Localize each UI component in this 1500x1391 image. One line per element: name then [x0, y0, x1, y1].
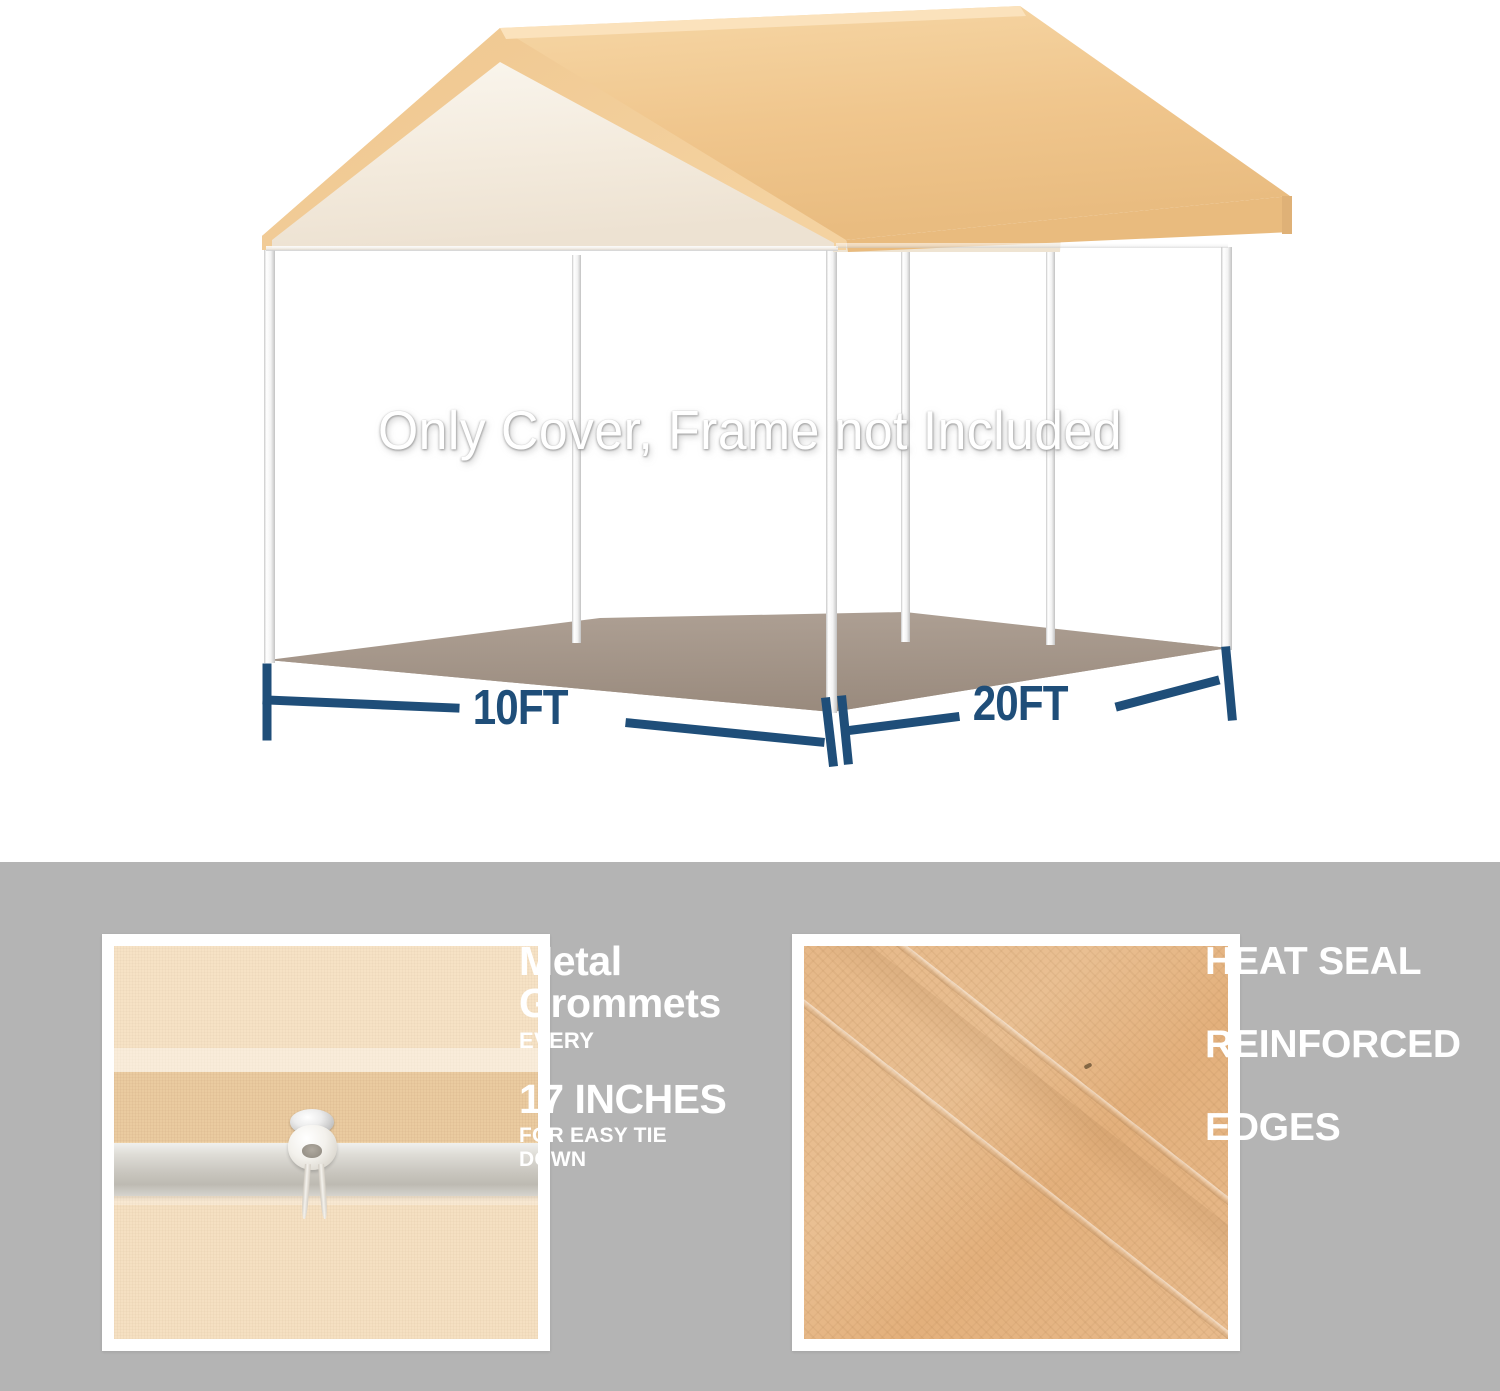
dim-tick-center-b	[842, 700, 848, 760]
caption-line-2: REINFORCED	[1205, 1025, 1485, 1066]
carport-3d-drawing	[0, 0, 1500, 862]
dim-arm-10ft-left	[267, 700, 455, 708]
fabric-band	[114, 1048, 538, 1072]
canopy-illustration-panel: Only Cover, Frame not Included 10FT 20FT	[0, 0, 1500, 862]
edge-photo-canvas	[804, 946, 1228, 1339]
fabric-band	[114, 946, 538, 1048]
dimension-label-length: 20FT	[973, 676, 1068, 732]
roof-corner-fascia	[1282, 196, 1292, 234]
frame-beam-front	[266, 246, 838, 251]
caption-headline: Metal Grommets	[519, 940, 739, 1024]
feature-photo-metal-grommets	[102, 934, 550, 1351]
grommet-photo-canvas	[114, 946, 538, 1339]
caption-line-1: HEAT SEAL	[1205, 942, 1485, 983]
frame-poles-rear	[572, 250, 1055, 645]
fabric-band	[114, 1205, 538, 1339]
ground-slab-main	[268, 613, 1228, 712]
caption-line-3: EDGES	[1205, 1108, 1485, 1149]
dim-tick-right	[1226, 651, 1232, 716]
dim-arm-20ft-right	[1120, 681, 1215, 706]
caption-measure: 17 INCHES	[519, 1078, 739, 1121]
caption-subtext: FOR EASY TIE DOWN	[519, 1124, 739, 1172]
caption-connector: EVERY	[519, 1028, 739, 1053]
caption-heat-seal-edges: HEAT SEAL REINFORCED EDGES	[1205, 942, 1485, 1149]
product-infographic: Only Cover, Frame not Included 10FT 20FT	[0, 0, 1500, 1391]
feature-photo-heat-seal-edges	[792, 934, 1240, 1351]
dim-arm-10ft-right	[630, 723, 820, 742]
grommet-hole	[302, 1144, 322, 1157]
dimension-label-width: 10FT	[473, 680, 568, 736]
frame-beam-right	[836, 243, 1228, 248]
caption-metal-grommets: Metal Grommets EVERY 17 INCHES FOR EASY …	[519, 940, 739, 1172]
dim-arm-20ft-left	[853, 717, 955, 730]
